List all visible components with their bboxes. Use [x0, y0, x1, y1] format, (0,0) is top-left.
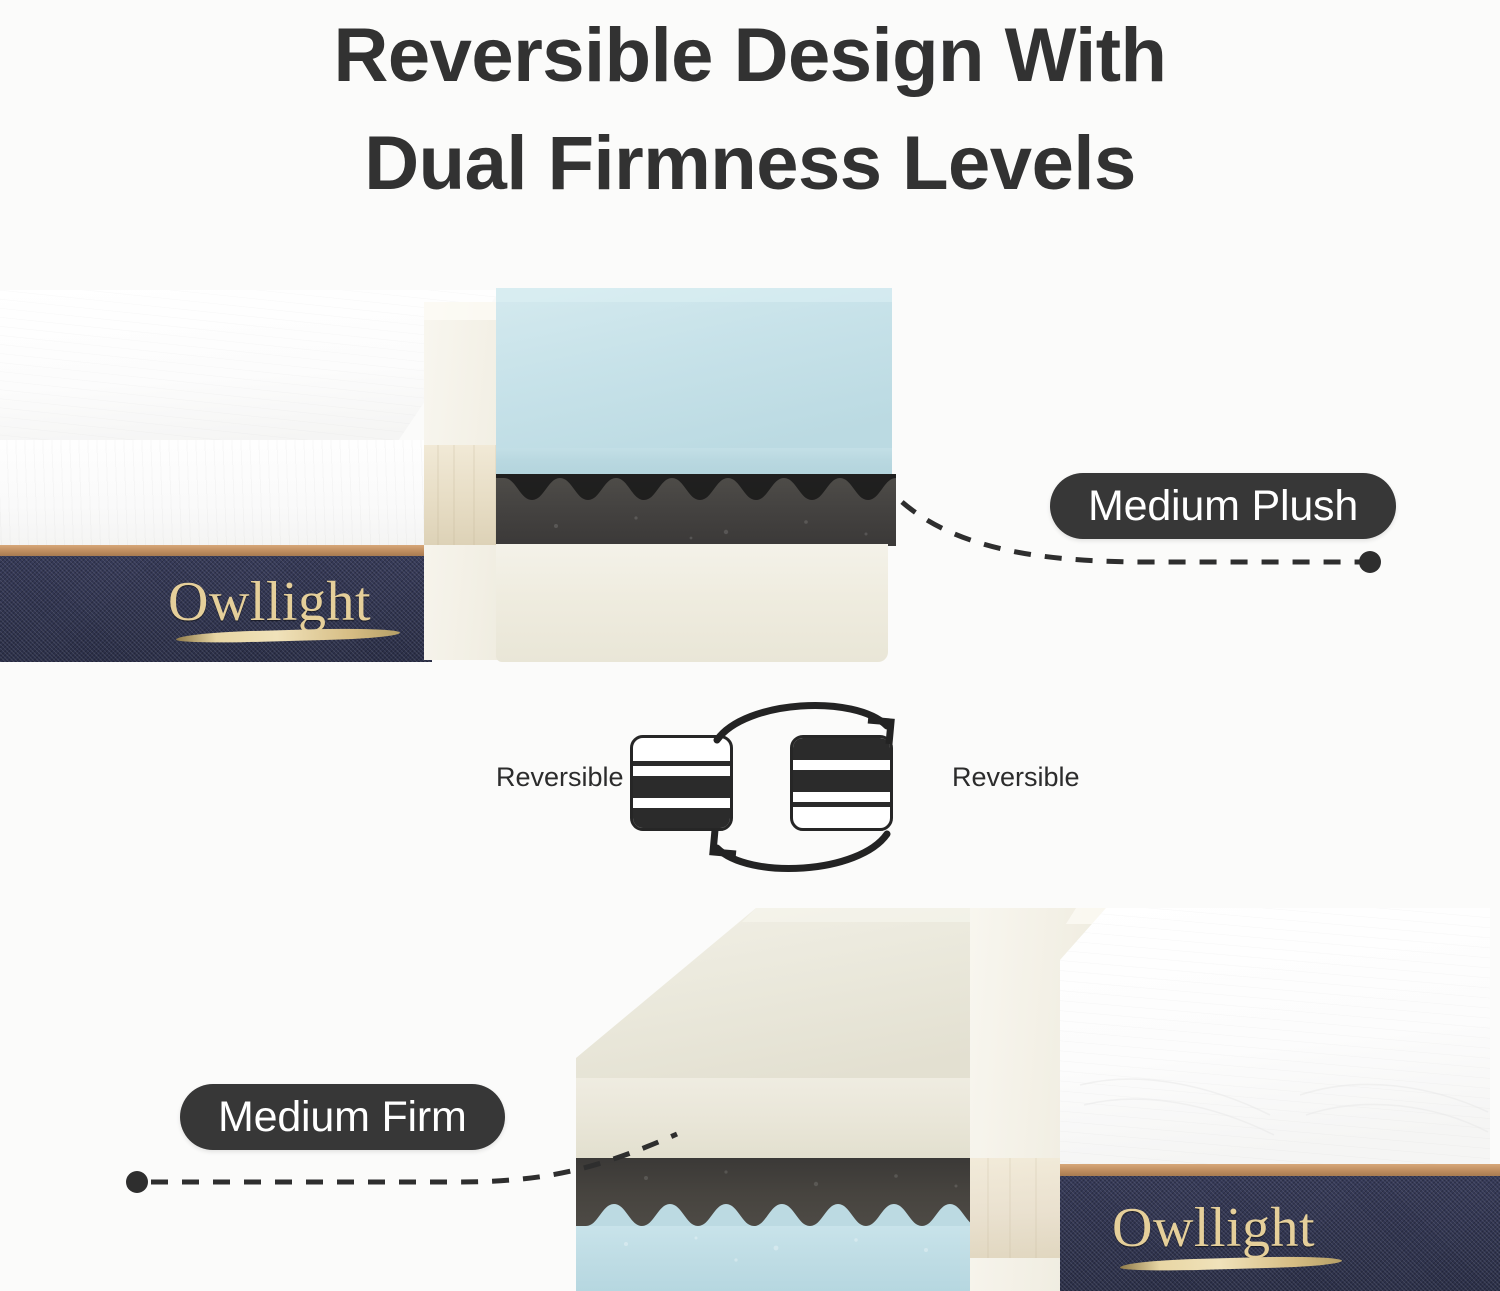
medium-plush-badge[interactable]: Medium Plush — [1050, 473, 1396, 539]
convoluted-foam-top-mattress — [496, 474, 896, 546]
brand-logo-top: Owllight — [168, 570, 371, 634]
curved-arrow-bottom-icon — [705, 822, 925, 882]
stripe — [633, 761, 730, 766]
reversible-label-right: Reversible — [952, 762, 1080, 793]
curved-arrow-top-icon — [705, 692, 925, 752]
top-cover-front-face — [0, 440, 432, 548]
base-foam-top-mattress — [496, 544, 888, 662]
medium-plush-label: Medium Plush — [1088, 482, 1358, 531]
bottom-mattress-illustration: Owllight — [560, 900, 1500, 1291]
stripe — [793, 770, 890, 792]
top-mattress-illustration: Owllight — [0, 280, 960, 680]
reversible-indicator-group: Reversible Reversible — [470, 690, 1090, 880]
bottom-piping-strip — [1060, 1164, 1500, 1176]
medium-firm-label: Medium Firm — [218, 1093, 467, 1142]
top-piping-strip — [0, 545, 432, 556]
connector-endpoint-dot — [1359, 551, 1381, 573]
title-line-1: Reversible Design With — [0, 2, 1500, 110]
page-title: Reversible Design With Dual Firmness Lev… — [0, 2, 1500, 218]
stripe — [793, 802, 890, 807]
stripe — [633, 776, 730, 798]
bottom-cover-top-face — [1060, 900, 1490, 1190]
reversible-label-left: Reversible — [496, 762, 624, 793]
top-logo-band: Owllight — [0, 556, 432, 662]
title-line-2: Dual Firmness Levels — [0, 110, 1500, 218]
bottom-logo-band: Owllight — [1060, 1176, 1500, 1291]
medium-firm-badge[interactable]: Medium Firm — [180, 1084, 505, 1150]
connector-endpoint-dot — [126, 1171, 148, 1193]
gel-foam-front-face — [496, 448, 892, 476]
brand-logo-bottom: Owllight — [1112, 1196, 1315, 1260]
infographic-canvas: Reversible Design With Dual Firmness Lev… — [0, 0, 1500, 1291]
